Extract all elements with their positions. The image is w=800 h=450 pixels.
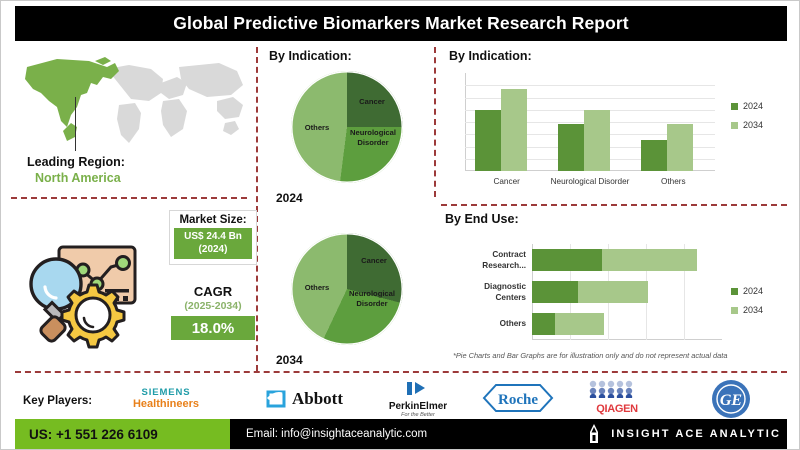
category-label: Others — [632, 177, 715, 188]
bar-row-1 — [532, 281, 722, 303]
enduse-x-axis — [532, 339, 722, 340]
logo-siemens-healthineers[interactable]: SIEMENS Healthineers — [111, 387, 221, 410]
indication-bar-legend: 20242034 — [731, 101, 763, 139]
indication-bar-chart — [465, 73, 715, 171]
market-size-value: US$ 24.4 Bn (2024) — [174, 228, 252, 259]
divider-horizontal-left — [11, 197, 247, 199]
legend-label: 2024 — [743, 286, 763, 296]
map-leader-line — [75, 97, 76, 151]
category-label: Diagnostic Centers — [456, 281, 526, 303]
bar-2034-2 — [667, 124, 693, 171]
legend-item-2034: 2034 — [731, 120, 763, 130]
market-size-amount: US$ 24.4 Bn — [176, 231, 250, 244]
bar-row-2 — [532, 313, 722, 335]
enduse-bar-title: By End Use: — [445, 212, 519, 226]
brand-name: INSIGHT ACE ANALYTIC — [611, 428, 781, 440]
legend-swatch — [731, 307, 738, 314]
infographic-page: Global Predictive Biomarkers Market Rese… — [0, 0, 800, 450]
legend-swatch — [731, 122, 738, 129]
bar-row-0 — [532, 249, 722, 271]
email-address[interactable]: Email: info@insightaceanalytic.com — [246, 428, 427, 440]
pie-2034-slice-label-cancer: Cancer — [353, 256, 395, 266]
divider-horizontal-bottom — [15, 371, 787, 373]
qiagen-wordmark: QIAGEN — [577, 403, 657, 415]
gridline — [465, 85, 715, 86]
phone-number: US: +1 551 226 6109 — [29, 427, 158, 442]
bar-2034-1 — [584, 110, 610, 171]
enduse-bar-chart — [532, 244, 722, 340]
perkinelmer-tagline: For the Better — [369, 412, 467, 418]
abbott-mark-icon — [265, 389, 287, 409]
leading-region-value: North America — [35, 171, 121, 185]
legend-label: 2034 — [743, 120, 763, 130]
brand-logo: INSIGHT ACE ANALYTIC — [586, 419, 781, 449]
svg-text:Roche: Roche — [498, 392, 538, 408]
cagr-title: CAGR — [171, 284, 255, 299]
market-size-title: Market Size: — [174, 214, 252, 226]
divider-horizontal-right — [441, 204, 787, 206]
svg-text:GE: GE — [720, 392, 742, 409]
pie-2034-slice-label-neuro: Neurological Disorder — [347, 289, 397, 309]
bar-2024-2 — [532, 313, 555, 335]
north-america-highlight — [25, 57, 119, 141]
bar-2034-1 — [578, 281, 648, 303]
key-players-label: Key Players: — [23, 395, 92, 407]
siemens-line1: SIEMENS — [111, 387, 221, 398]
indication-bar-title: By Indication: — [449, 49, 532, 63]
siemens-line2: Healthineers — [111, 398, 221, 410]
legend-item-2034: 2034 — [731, 305, 763, 315]
market-size-year: (2024) — [176, 244, 250, 257]
bar-2034-0 — [501, 89, 527, 171]
enduse-bar-legend: 20242034 — [731, 286, 763, 324]
category-label: Cancer — [465, 177, 548, 188]
bar-2024-1 — [532, 281, 578, 303]
world-map — [11, 49, 251, 161]
qiagen-dots-icon — [588, 380, 646, 398]
pie-2034-slice-label-others: Others — [297, 283, 337, 293]
divider-vertical-left — [256, 47, 258, 371]
legend-item-2024: 2024 — [731, 101, 763, 111]
cagr-value: 18.0% — [171, 316, 255, 340]
bar-2034-0 — [602, 249, 697, 271]
category-label: Contract Research... — [456, 249, 526, 271]
roche-hexagon-icon: Roche — [474, 383, 562, 413]
legend-swatch — [731, 103, 738, 110]
legend-swatch — [731, 288, 738, 295]
bar-2024-1 — [558, 124, 584, 171]
chart-footnote: *Pie Charts and Bar Graphs are for illus… — [453, 351, 727, 360]
bar-2024-0 — [532, 249, 602, 271]
logo-qiagen[interactable]: QIAGEN — [577, 380, 657, 415]
phone-banner[interactable]: US: +1 551 226 6109 — [15, 419, 230, 449]
ge-monogram-icon: GE — [711, 379, 751, 419]
divider-vertical-right — [434, 47, 436, 197]
logo-general-electric[interactable]: GE — [701, 379, 761, 424]
bar-2034-2 — [555, 313, 604, 335]
header-bar: Global Predictive Biomarkers Market Rese… — [15, 6, 787, 41]
bar-2024-2 — [641, 140, 667, 171]
legend-label: 2024 — [743, 101, 763, 111]
perkinelmer-wordmark: PerkinElmer — [369, 401, 467, 412]
logo-roche[interactable]: Roche — [473, 383, 563, 418]
bar-2024-0 — [475, 110, 501, 171]
category-label: Neurological Disorder — [548, 177, 631, 188]
page-title: Global Predictive Biomarkers Market Rese… — [173, 13, 628, 34]
market-research-icon — [17, 233, 145, 351]
logo-perkinelmer[interactable]: PerkinElmer For the Better — [369, 380, 467, 418]
legend-item-2024: 2024 — [731, 286, 763, 296]
pie-2024-slice-label-neuro: Neurological Disorder — [349, 128, 397, 148]
pie-2034-year: 2034 — [276, 353, 303, 367]
pies-section-label: By Indication: — [269, 49, 352, 63]
pie-2024-slice-label-others: Others — [297, 123, 337, 133]
pie-2024-slice-label-cancer: Cancer — [351, 97, 393, 107]
abbott-wordmark: Abbott — [292, 389, 343, 409]
insight-ace-mark-icon — [586, 423, 602, 445]
market-size-box: Market Size: US$ 24.4 Bn (2024) — [169, 210, 257, 265]
leading-region-label: Leading Region: — [27, 155, 125, 169]
pie-2024-year: 2024 — [276, 191, 303, 205]
cagr-range: (2025-2034) — [167, 300, 259, 312]
legend-label: 2034 — [743, 305, 763, 315]
perkinelmer-mark-icon — [401, 380, 435, 396]
logo-abbott[interactable]: Abbott — [249, 389, 359, 409]
category-label: Others — [456, 318, 526, 329]
